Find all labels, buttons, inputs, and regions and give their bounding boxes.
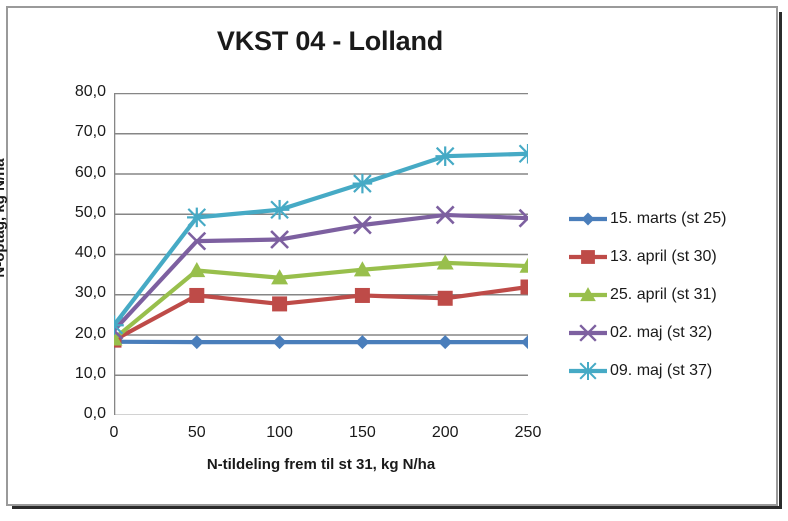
y-tick-label: 70,0: [75, 123, 106, 141]
frame-shadow-bottom: [12, 506, 782, 509]
legend-item-3[interactable]: 02. maj (st 32): [568, 314, 780, 352]
series-0: [114, 335, 528, 349]
y-tick-label: 40,0: [75, 244, 106, 262]
data-point-square: [521, 280, 529, 295]
legend-marker-x-icon: [568, 321, 608, 345]
legend-label: 02. maj (st 32): [608, 324, 712, 342]
data-point-diamond: [521, 335, 528, 349]
x-axis-tick-labels: 050100150200250: [114, 424, 528, 448]
y-tick-label: 60,0: [75, 164, 106, 182]
data-point-diamond: [582, 213, 595, 226]
x-tick-label: 0: [110, 424, 119, 442]
chart-legend: 15. marts (st 25)13. april (st 30)25. ap…: [568, 200, 780, 390]
legend-label: 13. april (st 30): [608, 248, 717, 266]
legend-label: 25. april (st 31): [608, 286, 717, 304]
x-tick-label: 200: [432, 424, 459, 442]
legend-marker-triangle-icon: [568, 283, 608, 307]
y-tick-label: 30,0: [75, 284, 106, 302]
legend-item-4[interactable]: 09. maj (st 37): [568, 352, 780, 390]
legend-item-2[interactable]: 25. april (st 31): [568, 276, 780, 314]
legend-item-0[interactable]: 15. marts (st 25): [568, 200, 780, 238]
x-tick-label: 150: [349, 424, 376, 442]
data-point-square: [355, 288, 370, 303]
data-point-square: [581, 250, 595, 264]
data-point-diamond: [438, 335, 452, 349]
legend-label: 09. maj (st 37): [608, 362, 712, 380]
x-tick-label: 250: [515, 424, 542, 442]
data-point-diamond: [273, 335, 287, 349]
plot-area: [114, 93, 528, 415]
data-point-asterisk: [187, 208, 207, 228]
data-point-asterisk: [579, 362, 597, 380]
data-point-diamond: [190, 335, 204, 349]
legend-label: 15. marts (st 25): [608, 210, 726, 228]
y-tick-label: 20,0: [75, 325, 106, 343]
y-tick-label: 80,0: [75, 83, 106, 101]
legend-marker-diamond-icon: [568, 207, 608, 231]
x-axis-title: N-tildeling frem til st 31, kg N/ha: [114, 456, 528, 473]
y-tick-label: 50,0: [75, 204, 106, 222]
data-point-asterisk: [435, 146, 455, 166]
chart-container: VKST 04 - Lolland N-optag, kg N/ha N-til…: [0, 0, 788, 521]
y-axis-tick-labels: 0,010,020,030,040,050,060,070,080,0: [58, 93, 106, 415]
data-point-asterisk: [270, 200, 290, 220]
legend-marker-square-icon: [568, 245, 608, 269]
data-point-square: [189, 288, 204, 303]
x-tick-label: 50: [188, 424, 206, 442]
data-point-square: [438, 291, 453, 306]
data-point-asterisk: [518, 144, 528, 164]
y-tick-label: 0,0: [84, 405, 106, 423]
data-point-asterisk: [353, 174, 373, 194]
data-point-diamond: [355, 335, 369, 349]
chart-title: VKST 04 - Lolland: [110, 26, 550, 57]
y-tick-label: 10,0: [75, 365, 106, 383]
data-point-square: [272, 296, 287, 311]
legend-marker-asterisk-icon: [568, 359, 608, 383]
plot-svg: [114, 93, 528, 415]
y-axis-title: N-optag, kg N/ha: [0, 118, 8, 318]
legend-item-1[interactable]: 13. april (st 30): [568, 238, 780, 276]
x-tick-label: 100: [266, 424, 293, 442]
